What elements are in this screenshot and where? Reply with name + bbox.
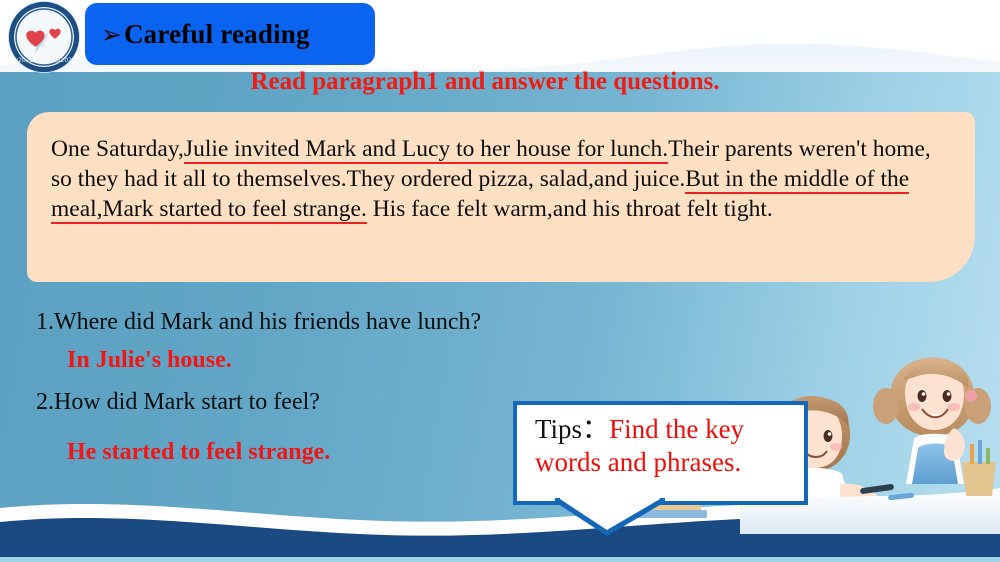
tips-label: Tips：	[535, 414, 609, 444]
reading-passage-box: One Saturday,Julie invited Mark and Lucy…	[27, 112, 975, 282]
passage-segment-4: His face felt warm,and his throat felt t…	[367, 196, 773, 222]
passage-segment-0: One Saturday,	[51, 136, 184, 162]
banner-title-text: Careful reading	[124, 19, 310, 50]
svg-text:\u2022\u2022\u2022\u2022\u2022: \u2022\u2022\u2022\u2022\u2022\u2022\u20…	[9, 57, 79, 64]
logo-icon: \u2022\u2022\u2022\u2022\u2022\u2022\u20…	[9, 2, 79, 72]
school-logo-badge: \u2022\u2022\u2022\u2022\u2022\u2022\u20…	[9, 2, 79, 72]
bottom-edge-strip	[0, 557, 1000, 562]
tips-callout-tail	[555, 498, 665, 540]
tips-callout: Tips：Find the key words and phrases.	[513, 401, 808, 505]
tips-text-1: Find the key	[609, 414, 744, 444]
answer-1: In Julie's house.	[36, 343, 656, 377]
slide-canvas: \u2022\u2022\u2022\u2022\u2022\u2022\u20…	[0, 0, 1000, 562]
passage-segment-1: Julie invited Mark and Lucy to her house…	[184, 136, 668, 164]
passage-text: One Saturday,Julie invited Mark and Lucy…	[51, 134, 955, 224]
tips-line-1: Tips：Find the key	[535, 413, 790, 446]
arrow-bullet-icon: ➢	[101, 22, 122, 47]
tips-line-2: words and phrases.	[535, 446, 790, 479]
section-title-banner[interactable]: ➢ Careful reading	[85, 3, 375, 65]
question-1: 1.Where did Mark and his friends have lu…	[36, 305, 656, 339]
instruction-text: Read paragraph1 and answer the questions…	[0, 68, 1000, 96]
